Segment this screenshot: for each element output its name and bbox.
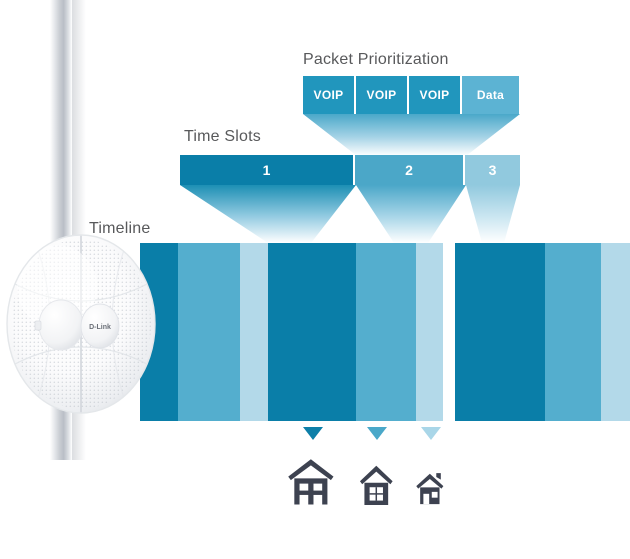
- arrow-slot-2-icon: [367, 427, 387, 440]
- time-slot-3: 3: [465, 155, 520, 185]
- diagram-canvas: D-Link Packet Prioritization Time Slots …: [0, 0, 630, 559]
- house-small-icon: [415, 468, 455, 513]
- packet-label: VOIP: [420, 88, 450, 102]
- timeline-bar-slot-3: [240, 243, 270, 421]
- timeline-bar-slot-3: [416, 243, 443, 421]
- timeline-bar-slot-1: [455, 243, 545, 421]
- house-large-icon: [283, 454, 337, 513]
- packet-label: Data: [477, 88, 504, 102]
- packet-label: VOIP: [367, 88, 397, 102]
- dlink-logo: D-Link: [89, 324, 111, 331]
- dish-antenna: D-Link: [5, 233, 157, 415]
- timeslot-1-funnel: [180, 185, 356, 243]
- timeslot-2-funnel: [356, 185, 466, 243]
- time-slots-title: Time Slots: [184, 128, 261, 146]
- time-slot-label: 1: [263, 162, 271, 178]
- packet-box-1: VOIP: [303, 76, 356, 114]
- packet-label: VOIP: [314, 88, 344, 102]
- packet-prioritization-title: Packet Prioritization: [303, 51, 449, 69]
- arrow-slot-1-icon: [303, 427, 323, 440]
- time-slot-2: 2: [355, 155, 465, 185]
- time-slot-1: 1: [180, 155, 355, 185]
- packet-box-4: Data: [462, 76, 519, 114]
- timeline-bar-slot-2: [545, 243, 601, 421]
- time-slot-label: 2: [405, 162, 413, 178]
- timeslot-3-funnel: [466, 185, 520, 243]
- time-slot-label: 3: [489, 162, 497, 178]
- packet-list: VOIPVOIPVOIPData: [303, 76, 519, 114]
- time-slot-list: 123: [180, 155, 520, 185]
- packet-box-3: VOIP: [409, 76, 462, 114]
- timeline-bar-slot-1: [268, 243, 356, 421]
- packet-to-timeslot-funnel: [303, 114, 520, 156]
- arrow-slot-3-icon: [421, 427, 441, 440]
- timeline-bar-slot-3: [601, 243, 630, 421]
- packet-box-2: VOIP: [356, 76, 409, 114]
- house-medium-icon: [357, 462, 403, 513]
- timeline-bar-slot-2: [178, 243, 240, 421]
- timeline-bar-slot-2: [356, 243, 416, 421]
- timeline-title: Timeline: [89, 220, 150, 238]
